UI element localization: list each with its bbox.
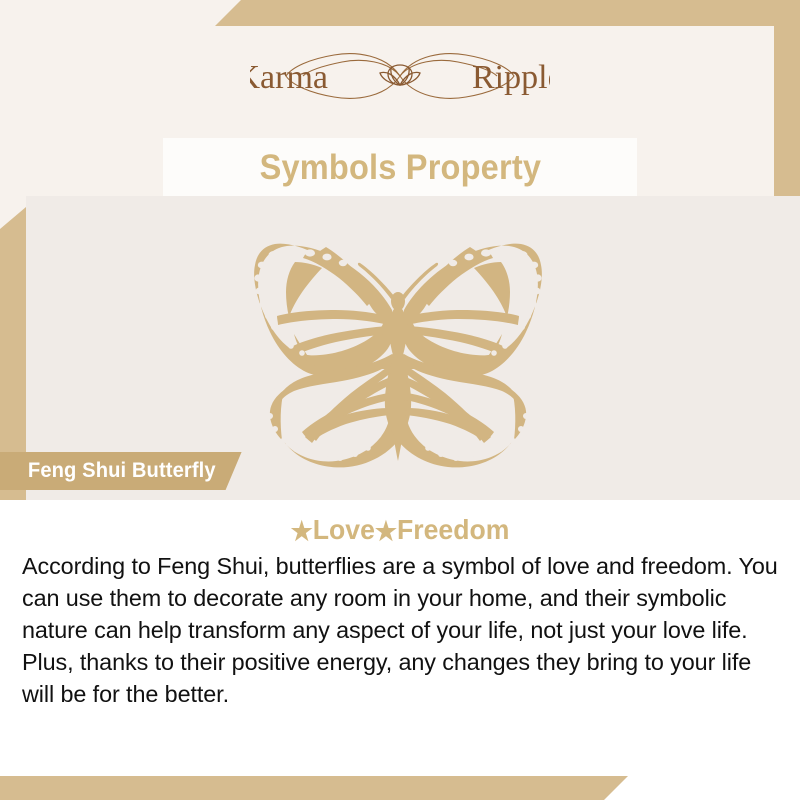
page-title: Symbols Property [259, 148, 541, 188]
ribbon-label: Feng Shui Butterfly [28, 459, 216, 483]
feng-shui-butterfly-icon [222, 238, 574, 476]
star-icon-left: ★ [291, 516, 313, 546]
description-paragraph: According to Feng Shui, butterflies are … [22, 550, 786, 710]
subheading-word-love: Love [313, 514, 375, 545]
description-section: ★Love★Freedom According to Feng Shui, bu… [0, 500, 800, 776]
frame-band-bottom [0, 774, 630, 800]
brand-word-left: Karma [250, 59, 328, 96]
poster-root: Karma Ripple Symbols Property [0, 0, 800, 800]
feng-shui-butterfly-ribbon: Feng Shui Butterfly [0, 452, 242, 490]
frame-band-top [215, 0, 800, 26]
title-banner: Symbols Property [163, 138, 637, 198]
lotus-infinity-ornament-icon: Karma Ripple [250, 40, 550, 112]
love-freedom-subheading: ★Love★Freedom [20, 514, 780, 547]
star-icon-middle: ★ [375, 516, 397, 546]
brand-word-right: Ripple [472, 59, 550, 96]
brand-logo: Karma Ripple [0, 40, 800, 112]
subheading-word-freedom: Freedom [397, 514, 509, 545]
